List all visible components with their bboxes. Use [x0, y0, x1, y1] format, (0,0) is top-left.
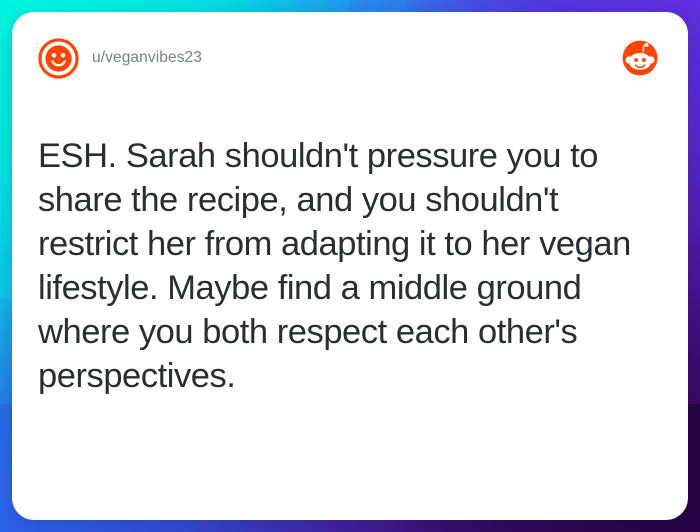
post-text: ESH. Sarah shouldn't pressure you to sha…: [38, 134, 662, 398]
reddit-snoo-icon[interactable]: [622, 40, 658, 76]
post-header: u/veganvibes23: [38, 35, 662, 81]
smiley-face-avatar-icon[interactable]: [38, 38, 79, 79]
username-label: u/veganvibes23: [92, 49, 202, 67]
screenshot-canvas: u/veganvibes23 ESH. Sarah shouldn: [0, 0, 700, 532]
post-card: u/veganvibes23 ESH. Sarah shouldn: [12, 12, 688, 520]
post-body: ESH. Sarah shouldn't pressure you to sha…: [38, 134, 662, 520]
